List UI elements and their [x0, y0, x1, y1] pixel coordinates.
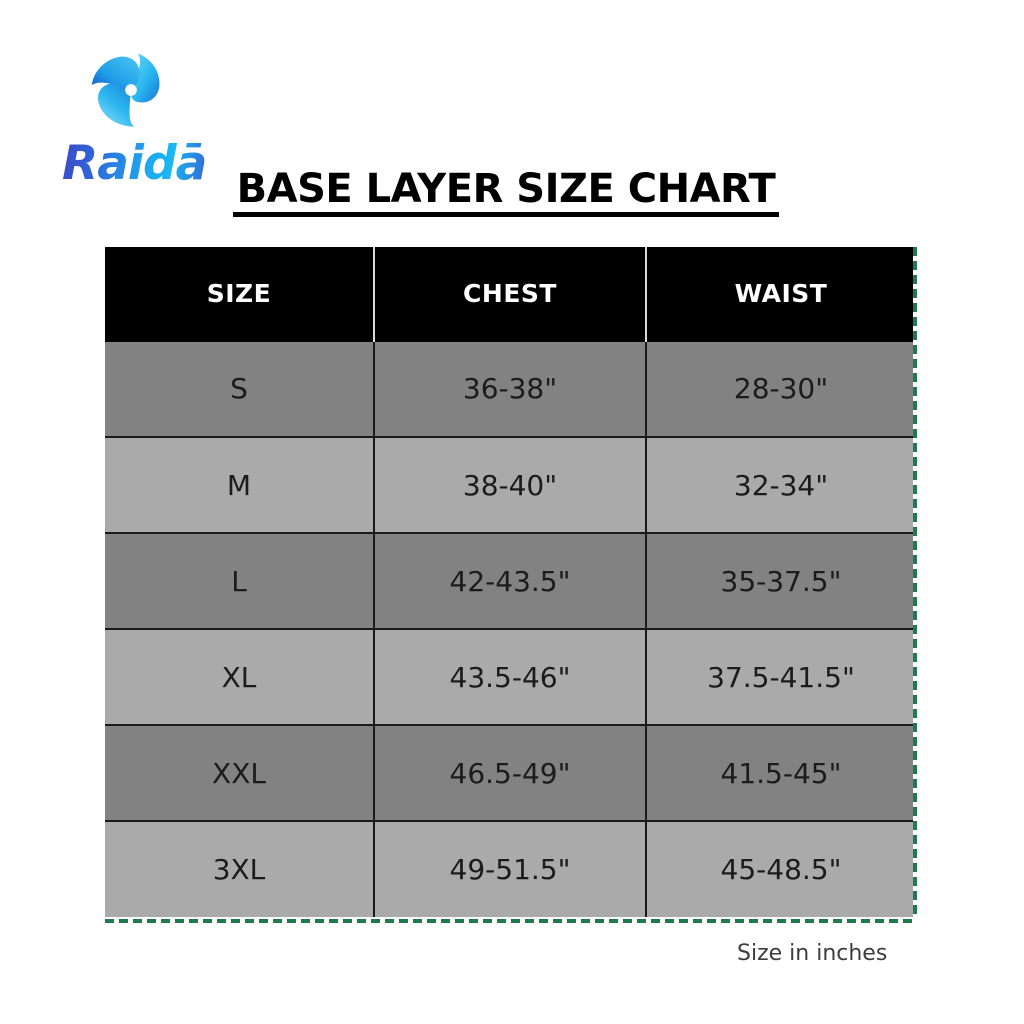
cell-waist: 37.5-41.5" — [646, 629, 915, 725]
title-underline — [233, 212, 779, 217]
cell-waist: 28-30" — [646, 341, 915, 437]
size-chart-table: SIZE CHEST WAIST S 36-38" 28-30" M 38-40… — [105, 247, 915, 917]
cell-chest: 46.5-49" — [374, 725, 646, 821]
cell-size: S — [105, 341, 374, 437]
cell-waist: 35-37.5" — [646, 533, 915, 629]
cell-chest: 49-51.5" — [374, 821, 646, 917]
table-row: XL 43.5-46" 37.5-41.5" — [105, 629, 915, 725]
page-title: BASE LAYER SIZE CHART — [231, 166, 781, 212]
unit-footnote: Size in inches — [737, 941, 887, 966]
brand-wordmark: Raidā — [62, 136, 212, 191]
cell-chest: 43.5-46" — [374, 629, 646, 725]
cell-size: XXL — [105, 725, 374, 821]
column-header-waist: WAIST — [646, 247, 915, 341]
table-row: M 38-40" 32-34" — [105, 437, 915, 533]
cell-size: M — [105, 437, 374, 533]
cell-size: XL — [105, 629, 374, 725]
cell-chest: 42-43.5" — [374, 533, 646, 629]
cell-chest: 36-38" — [374, 341, 646, 437]
table-row: XXL 46.5-49" 41.5-45" — [105, 725, 915, 821]
cell-waist: 45-48.5" — [646, 821, 915, 917]
column-header-chest: CHEST — [374, 247, 646, 341]
selection-border-bottom — [105, 919, 917, 923]
table-row: L 42-43.5" 35-37.5" — [105, 533, 915, 629]
cell-waist: 41.5-45" — [646, 725, 915, 821]
table-row: 3XL 49-51.5" 45-48.5" — [105, 821, 915, 917]
cell-size: L — [105, 533, 374, 629]
table-header-row: SIZE CHEST WAIST — [105, 247, 915, 341]
table-row: S 36-38" 28-30" — [105, 341, 915, 437]
cell-waist: 32-34" — [646, 437, 915, 533]
cell-chest: 38-40" — [374, 437, 646, 533]
column-header-size: SIZE — [105, 247, 374, 341]
turbine-fan-icon — [80, 50, 182, 130]
size-chart-table-container: SIZE CHEST WAIST S 36-38" 28-30" M 38-40… — [105, 247, 915, 919]
cell-size: 3XL — [105, 821, 374, 917]
selection-border-right — [913, 247, 917, 923]
brand-logo: Raidā — [62, 48, 212, 193]
